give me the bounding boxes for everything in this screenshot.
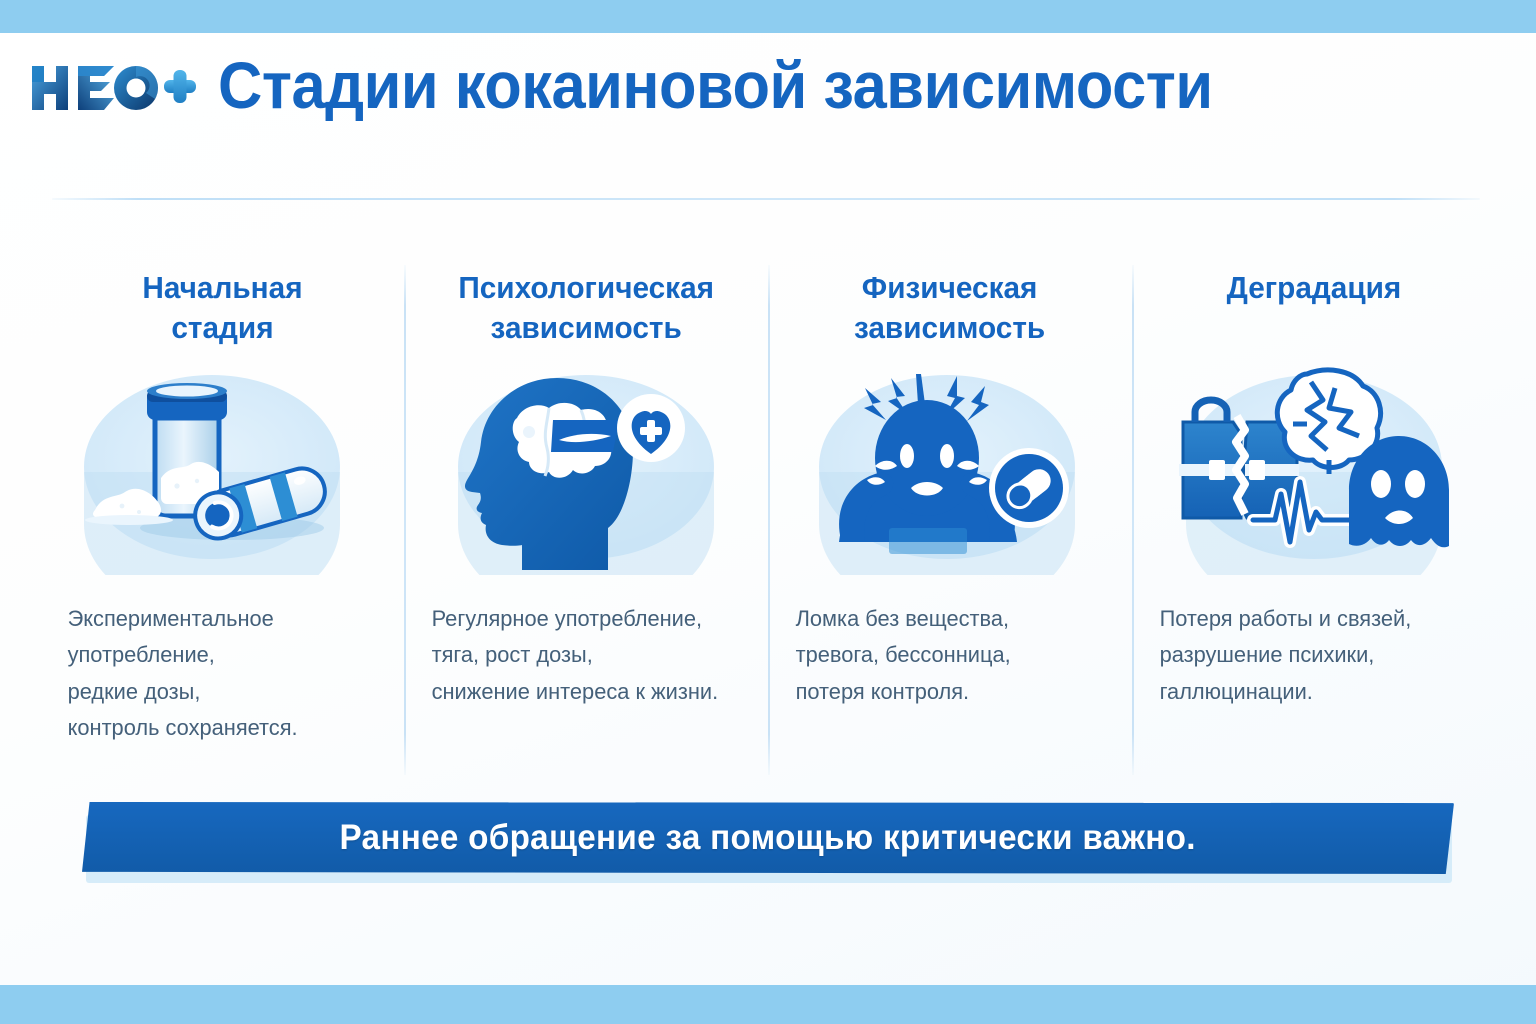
stage-title-line: зависимость (854, 308, 1045, 348)
title-divider (52, 198, 1480, 200)
distressed-person-with-pill-icon (805, 360, 1095, 575)
stage-body-line: Потеря работы и связей, (1160, 601, 1472, 637)
poster-header: Стадии кокаиновой зависимости (0, 33, 1536, 183)
stage-title-line: стадия (142, 308, 302, 348)
stage-body-line: снижение интереса к жизни. (432, 674, 744, 710)
stage-title-1: Начальная стадия (142, 268, 302, 352)
top-accent-band (0, 0, 1536, 33)
page-title: Стадии кокаиновой зависимости (218, 51, 1213, 120)
stage-column-3: Физическая зависимость (768, 250, 1132, 770)
stage-body-3: Ломка без вещества, тревога, бессонница,… (782, 601, 1108, 710)
stage-body-line: разрушение психики, (1160, 637, 1472, 673)
stage-title-3: Физическая зависимость (854, 268, 1045, 352)
stage-body-line: тяга, рост дозы, (432, 637, 744, 673)
footer-banner-text: Раннее обращение за помощью критически в… (340, 818, 1196, 858)
powder-jar-and-rolled-banknote-icon (77, 360, 367, 575)
stage-column-2: Психологическая зависимость (404, 250, 768, 770)
stage-body-line: Регулярное употребление, (432, 601, 744, 637)
stage-title-2: Психологическая зависимость (458, 268, 714, 352)
stage-body-line: тревога, бессонница, (796, 637, 1108, 673)
stage-body-line: Экспериментальное (68, 601, 380, 637)
stage-title-line: Начальная (142, 268, 302, 308)
stage-body-line: редкие дозы, (68, 674, 380, 710)
footer-banner: Раннее обращение за помощью критически в… (82, 802, 1454, 874)
broken-briefcase-cracked-brain-ghost-icon (1169, 360, 1459, 575)
stage-body-1: Экспериментальное употребление, редкие д… (54, 601, 380, 747)
stage-column-1: Начальная стадия (40, 250, 404, 770)
stage-title-line: зависимость (458, 308, 714, 348)
stage-body-4: Потеря работы и связей, разрушение психи… (1146, 601, 1472, 710)
stage-body-line: галлюцинации. (1160, 674, 1472, 710)
stage-body-2: Регулярное употребление, тяга, рост дозы… (418, 601, 744, 710)
bottom-accent-band (0, 985, 1536, 1024)
stage-title-line: Физическая (854, 268, 1045, 308)
stage-title-4: Деградация (1227, 268, 1402, 352)
stage-title-line: Психологическая (458, 268, 714, 308)
stage-column-4: Деградация (1132, 250, 1496, 770)
infographic-poster: Стадии кокаиновой зависимости Начальная … (0, 0, 1536, 1024)
stage-body-line: Ломка без вещества, (796, 601, 1108, 637)
stages-row: Начальная стадия (40, 250, 1496, 770)
stage-title-line: Деградация (1227, 268, 1402, 308)
stage-body-line: потеря контроля. (796, 674, 1108, 710)
stage-body-line: контроль сохраняется. (68, 710, 380, 746)
head-brain-with-heart-plus-icon (441, 360, 731, 575)
neo-plus-logo[interactable] (28, 58, 198, 118)
stage-body-line: употребление, (68, 637, 380, 673)
